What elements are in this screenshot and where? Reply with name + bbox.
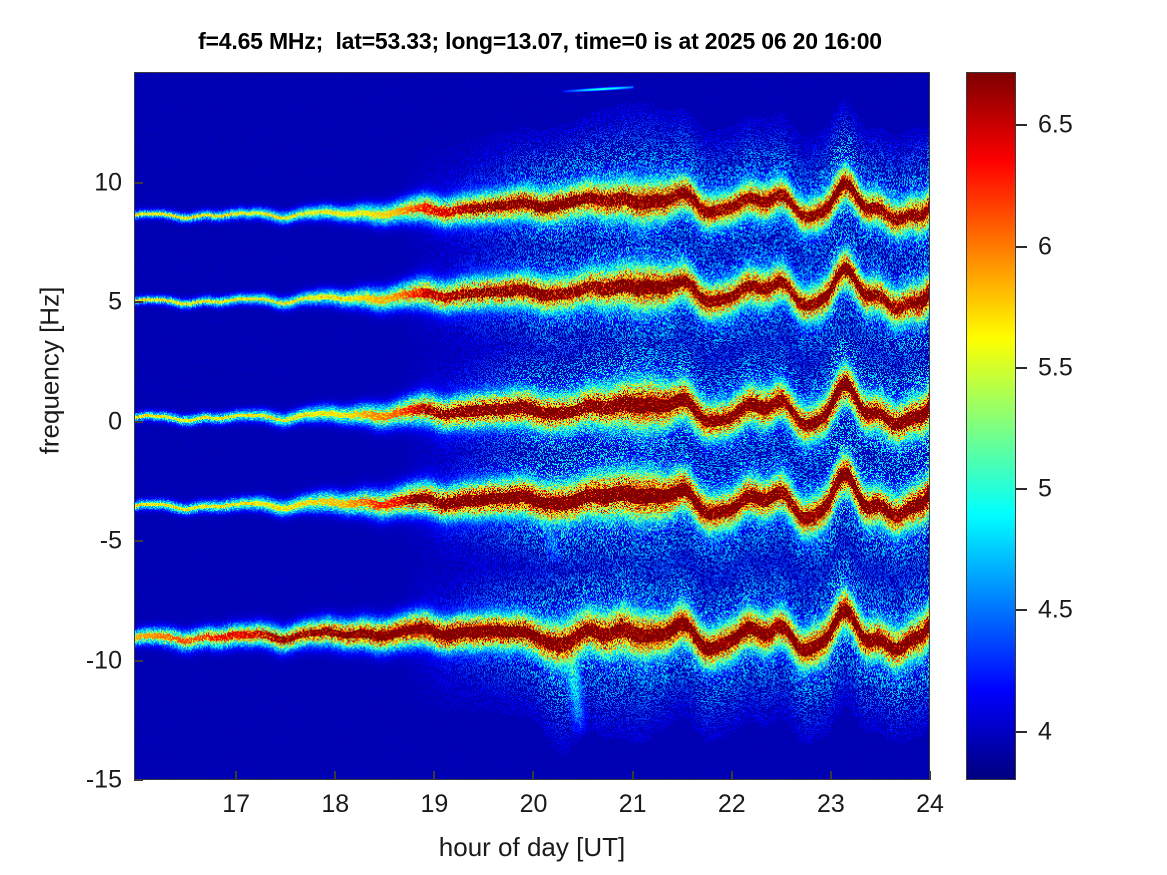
colorbar-tick-mark — [1016, 246, 1027, 248]
y-tick-mark — [134, 301, 143, 303]
x-tick-mark — [235, 771, 237, 780]
x-tick-label: 24 — [890, 790, 970, 819]
x-axis-label: hour of day [UT] — [134, 832, 930, 863]
x-tick-mark — [334, 771, 336, 780]
y-tick-mark — [134, 660, 143, 662]
colorbar-tick-label: 4 — [1038, 717, 1052, 746]
y-tick-mark — [134, 421, 143, 423]
x-tick-mark — [532, 771, 534, 780]
x-tick-mark — [731, 771, 733, 780]
colorbar-tick-label: 5 — [1038, 475, 1052, 504]
spectrogram-image — [135, 73, 929, 779]
y-tick-label: 5 — [62, 288, 122, 317]
x-axis-ticklabels: 1718192021222324 — [0, 790, 1167, 830]
y-tick-label: 10 — [62, 169, 122, 198]
x-tick-label: 20 — [493, 790, 573, 819]
figure-title: f=4.65 MHz; lat=53.33; long=13.07, time=… — [0, 28, 1080, 55]
colorbar-tick-label: 6 — [1038, 232, 1052, 261]
x-tick-label: 22 — [692, 790, 772, 819]
y-axis-label: frequency [Hz] — [35, 261, 66, 481]
y-tick-mark — [134, 182, 143, 184]
x-tick-mark — [433, 771, 435, 780]
y-tick-mark — [134, 540, 143, 542]
x-tick-mark — [632, 771, 634, 780]
colorbar-ticklabels: 44.555.566.5 — [1016, 0, 1156, 875]
colorbar-gradient — [967, 73, 1015, 779]
x-tick-mark — [830, 771, 832, 780]
x-tick-label: 19 — [394, 790, 474, 819]
colorbar-tick-mark — [1016, 488, 1027, 490]
spectrogram-axes[interactable] — [134, 72, 930, 780]
x-tick-label: 21 — [593, 790, 673, 819]
y-axis-ticklabels: 1050-5-10-15 — [56, 0, 122, 875]
colorbar-tick-mark — [1016, 731, 1027, 733]
colorbar[interactable] — [966, 72, 1016, 780]
colorbar-tick-label: 4.5 — [1038, 596, 1073, 625]
colorbar-tick-mark — [1016, 609, 1027, 611]
y-tick-mark — [134, 779, 143, 781]
figure-root: f=4.65 MHz; lat=53.33; long=13.07, time=… — [0, 0, 1167, 875]
y-tick-label: 0 — [62, 407, 122, 436]
x-tick-label: 23 — [791, 790, 871, 819]
x-tick-label: 18 — [295, 790, 375, 819]
y-tick-label: -5 — [62, 527, 122, 556]
y-tick-label: -10 — [62, 646, 122, 675]
colorbar-tick-label: 5.5 — [1038, 353, 1073, 382]
x-tick-label: 17 — [196, 790, 276, 819]
x-tick-mark — [929, 771, 931, 780]
colorbar-tick-label: 6.5 — [1038, 111, 1073, 140]
colorbar-tick-mark — [1016, 367, 1027, 369]
colorbar-tick-mark — [1016, 124, 1027, 126]
